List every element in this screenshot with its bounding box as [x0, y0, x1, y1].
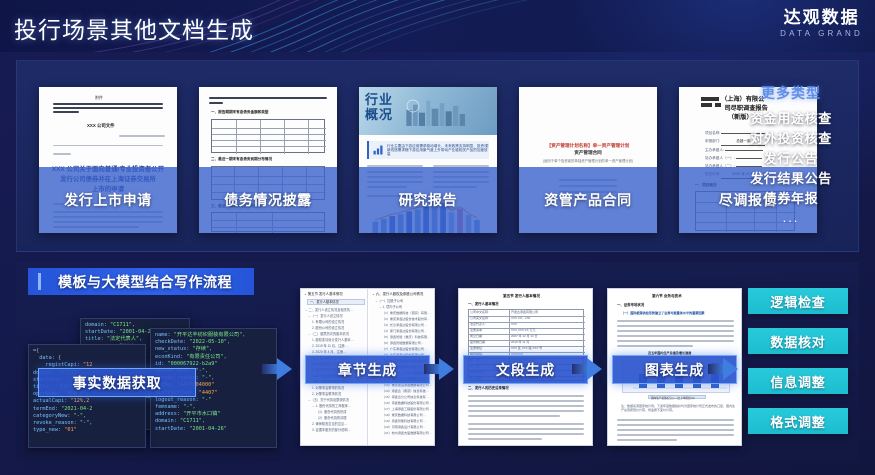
document-card-debt-disclosure[interactable]: 一、报告期期末有息债务金额和类型 二、最近一期末有息债务到期分布情况: [199, 87, 337, 233]
card-label-text: 债务情况披露: [224, 190, 312, 210]
more-types-list: 更多类型 资金用途核查 对外投资核查 发行公告 发行结果公告 债券年报 ...: [727, 83, 855, 227]
more-type-item-0[interactable]: 资金用途核查: [727, 109, 855, 129]
card-label-bar: 研究报告: [359, 167, 497, 233]
card-label-bar: 债务情况披露: [199, 167, 337, 233]
check-button-label: 信息调整: [770, 372, 825, 391]
more-types-heading: 更多类型: [727, 83, 855, 103]
workflow-section-tag: 模板与大模型结合写作流程: [28, 268, 254, 295]
check-button-label: 格式调整: [770, 412, 825, 431]
brand-logo-cn: 达观数据: [780, 8, 863, 28]
more-types-ellipsis: ...: [727, 209, 855, 227]
card-label-text: 资管产品合同: [544, 190, 632, 210]
flow-arrow-1: [262, 358, 292, 380]
more-type-item-1[interactable]: 对外投资核查: [727, 129, 855, 149]
more-type-item-3[interactable]: 发行结果公告: [727, 169, 855, 189]
check-button-data[interactable]: 数据核对: [748, 328, 848, 354]
brand-logo-en: DATA GRAND: [780, 28, 863, 40]
document-card-issuance-application[interactable]: 附件 XXX 公司文件 XXX 公司关于面向普通/专业投资者公开发行公司债券并在…: [39, 87, 177, 233]
slide-header: 投行场景其他文档生成 达观数据 DATA GRAND: [0, 0, 875, 52]
document-card-research-report[interactable]: 行业概况 行业主要由下游应用需求驱动增长，未来政策支持明显、投资/更新改造需求随…: [359, 87, 497, 233]
document-card-asset-mgmt-contract[interactable]: 【资产管理计划名称】单一资产管理计划 资产管理合同 (适用于单个投资者的单独资产…: [519, 87, 657, 233]
step-label: 文段生成: [496, 360, 555, 380]
card-label-bar: 资管产品合同: [519, 167, 657, 233]
document-types-panel: 附件 XXX 公司文件 XXX 公司关于面向普通/专业投资者公开发行公司债券并在…: [16, 60, 859, 252]
flow-arrow-4: [708, 358, 738, 380]
step-tag-chapter-generation: 章节生成: [305, 355, 430, 384]
step-tag-paragraph-generation: 文段生成: [463, 355, 588, 384]
check-button-info[interactable]: 信息调整: [748, 368, 848, 394]
step-label: 事实数据获取: [73, 373, 162, 393]
more-type-item-2[interactable]: 发行公告: [727, 149, 855, 169]
step-tag-fact-extraction: 事实数据获取: [38, 368, 196, 397]
card-label-text: 发行上市申请: [64, 190, 152, 210]
card-label-text: 研究报告: [399, 190, 457, 210]
check-button-label: 逻辑检查: [770, 292, 825, 311]
more-type-item-4[interactable]: 债券年报: [727, 189, 855, 209]
page-title: 投行场景其他文档生成: [14, 11, 254, 45]
slide-root: 投行场景其他文档生成 达观数据 DATA GRAND 附件 XXX 公司文件: [0, 0, 875, 475]
check-button-label: 数据核对: [770, 332, 825, 351]
flow-arrow-2: [424, 358, 454, 380]
check-button-format[interactable]: 格式调整: [748, 408, 848, 434]
workflow-section-title: 模板与大模型结合写作流程: [58, 272, 232, 292]
card-label-bar: 发行上市申请: [39, 167, 177, 233]
step-label: 图表生成: [645, 360, 704, 380]
document-card-list: 附件 XXX 公司文件 XXX 公司关于面向普通/专业投资者公开发行公司债券并在…: [39, 87, 817, 233]
flow-arrow-3: [572, 358, 602, 380]
step-label: 章节生成: [338, 360, 397, 380]
brand-logo: 达观数据 DATA GRAND: [780, 8, 863, 40]
check-button-list: 逻辑检查 数据核对 信息调整 格式调整: [748, 288, 848, 448]
check-button-logic[interactable]: 逻辑检查: [748, 288, 848, 314]
